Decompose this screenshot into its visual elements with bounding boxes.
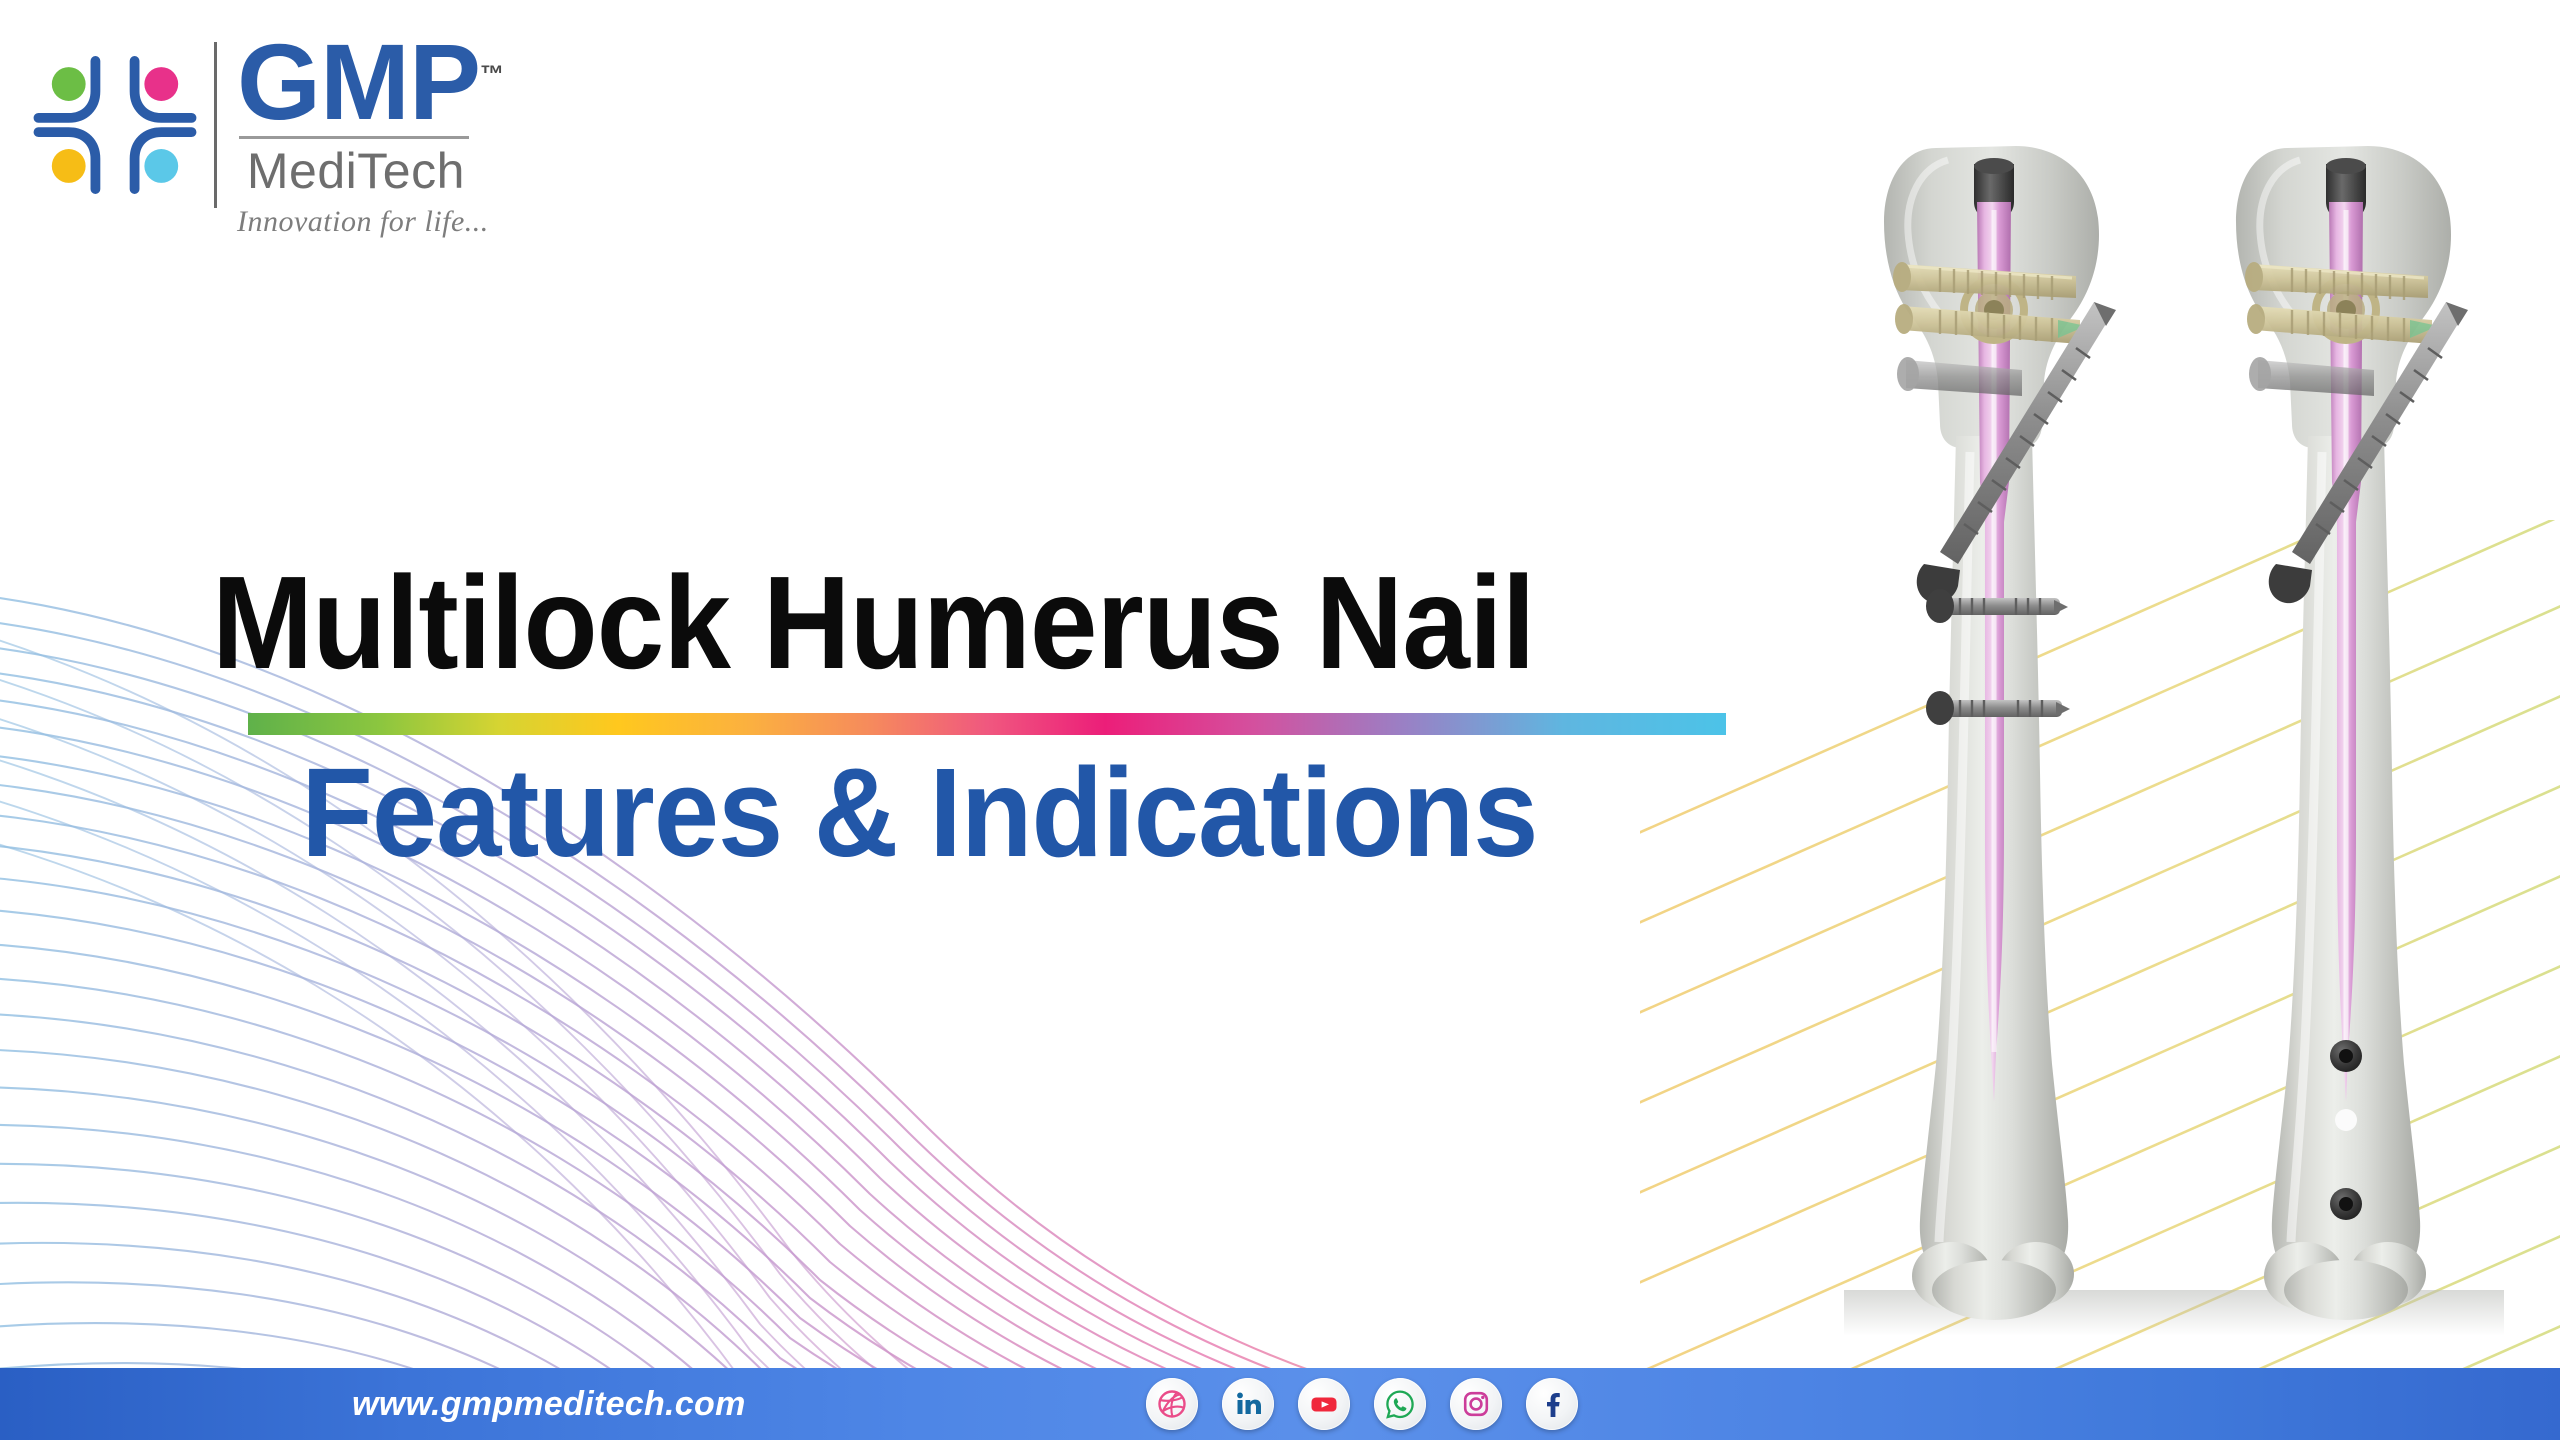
instagram-icon bbox=[1461, 1389, 1491, 1419]
dribbble-icon bbox=[1156, 1388, 1188, 1420]
implant-illustration-group bbox=[1824, 52, 2524, 1372]
brand-logo: GMP™ MediTech Innovation for life... bbox=[26, 24, 646, 284]
logo-wordmark: GMP™ MediTech Innovation for life... bbox=[237, 24, 509, 239]
social-link-youtube[interactable] bbox=[1298, 1378, 1350, 1430]
headline: Multilock Humerus Nail Features & Indica… bbox=[212, 556, 1772, 877]
logo-tagline: Innovation for life... bbox=[237, 197, 509, 239]
distal-locking-hole-2 bbox=[2330, 1188, 2362, 1220]
gmp-quadrant-logo-mark bbox=[26, 36, 204, 214]
page-title: Multilock Humerus Nail bbox=[212, 556, 1647, 691]
logo-brand-text: GMP bbox=[237, 21, 480, 142]
facebook-icon bbox=[1537, 1389, 1567, 1419]
social-link-linkedin[interactable] bbox=[1222, 1378, 1274, 1430]
social-link-instagram[interactable] bbox=[1450, 1378, 1502, 1430]
social-link-dribbble[interactable] bbox=[1146, 1378, 1198, 1430]
logo-dot-yellow bbox=[52, 149, 86, 183]
linkedin-icon bbox=[1233, 1389, 1263, 1419]
whatsapp-icon bbox=[1384, 1388, 1416, 1420]
website-url[interactable]: www.gmpmeditech.com bbox=[352, 1385, 746, 1424]
youtube-icon bbox=[1308, 1388, 1340, 1420]
humerus-implant-view-right bbox=[2236, 146, 2468, 1320]
presentation-slide: GMP™ MediTech Innovation for life... Mul… bbox=[0, 0, 2560, 1440]
logo-dot-pink bbox=[144, 67, 178, 101]
logo-dot-cyan bbox=[144, 149, 178, 183]
distal-locking-hole-1 bbox=[2330, 1040, 2362, 1072]
title-gradient-rule bbox=[248, 713, 1726, 735]
social-links bbox=[1146, 1378, 1578, 1430]
logo-sub-name: MediTech bbox=[237, 145, 509, 198]
logo-dot-green bbox=[52, 67, 86, 101]
page-subtitle: Features & Indications bbox=[212, 749, 1663, 878]
logo-brand-name: GMP™ bbox=[237, 30, 509, 134]
social-link-facebook[interactable] bbox=[1526, 1378, 1578, 1430]
distal-locking-hole-open bbox=[2335, 1109, 2357, 1131]
social-link-whatsapp[interactable] bbox=[1374, 1378, 1426, 1430]
humerus-implant-view-left bbox=[1884, 146, 2116, 1320]
logo-divider bbox=[214, 42, 217, 208]
footer-bar: www.gmpmeditech.com bbox=[0, 1368, 2560, 1440]
trademark-symbol: ™ bbox=[480, 61, 504, 88]
